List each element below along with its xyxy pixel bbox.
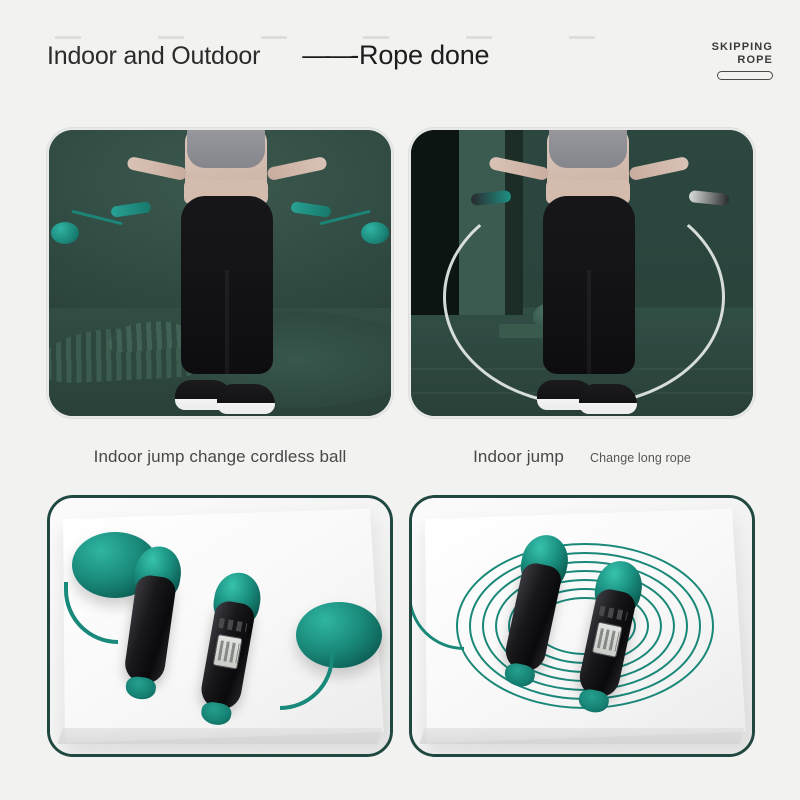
product-panel-cordless[interactable] (47, 495, 393, 757)
person-jumping (151, 128, 301, 416)
product-panel-long-rope[interactable] (409, 495, 755, 757)
person-shoe-right (217, 384, 275, 414)
person-jumping (513, 128, 663, 416)
person-sports-bra (187, 128, 265, 168)
brand-logo-line2: ROPE (685, 54, 773, 67)
product-board-edge (420, 728, 745, 744)
page-title-main: Indoor and Outdoor (47, 42, 260, 71)
caption-indoor-cordless: Indoor jump change cordless ball (47, 447, 393, 467)
person-sports-bra (549, 128, 627, 168)
cell-indoor-cordless (47, 128, 393, 418)
photo-row (47, 128, 755, 418)
person-leggings (181, 196, 273, 374)
cell-indoor-long-rope (409, 128, 755, 418)
person-shoe-right (579, 384, 637, 414)
cell-product-long-rope (409, 495, 755, 757)
product-grid: Indoor jump change cordless ball Indoor … (47, 128, 755, 757)
product-row (47, 495, 755, 757)
page-title: Indoor and Outdoor —— -Rope done (47, 40, 489, 71)
page-header: Indoor and Outdoor —— -Rope done SKIPPIN… (0, 0, 800, 118)
product-board-edge (58, 728, 383, 744)
cell-product-cordless (47, 495, 393, 757)
caption-indoor-long-rope: Indoor jump Change long rope (409, 447, 755, 467)
page-title-sub: -Rope done (350, 40, 489, 71)
page-title-dash: —— (302, 40, 350, 71)
caption-row: Indoor jump change cordless ball Indoor … (47, 418, 755, 495)
photo-panel-indoor-long-rope[interactable] (409, 128, 755, 418)
cordless-ball-weight-right (361, 222, 389, 244)
caption-large-text: Indoor jump change cordless ball (94, 447, 347, 467)
brand-logo: SKIPPING ROPE (685, 41, 773, 80)
cordless-ball-weight-left (51, 222, 79, 244)
caption-small-text: Change long rope (590, 451, 691, 465)
photo-panel-indoor-cordless[interactable] (47, 128, 393, 418)
brand-logo-line1: SKIPPING (685, 41, 773, 54)
person-leggings (543, 196, 635, 374)
rounded-pill-icon (717, 71, 773, 80)
caption-large-text: Indoor jump (473, 447, 564, 467)
